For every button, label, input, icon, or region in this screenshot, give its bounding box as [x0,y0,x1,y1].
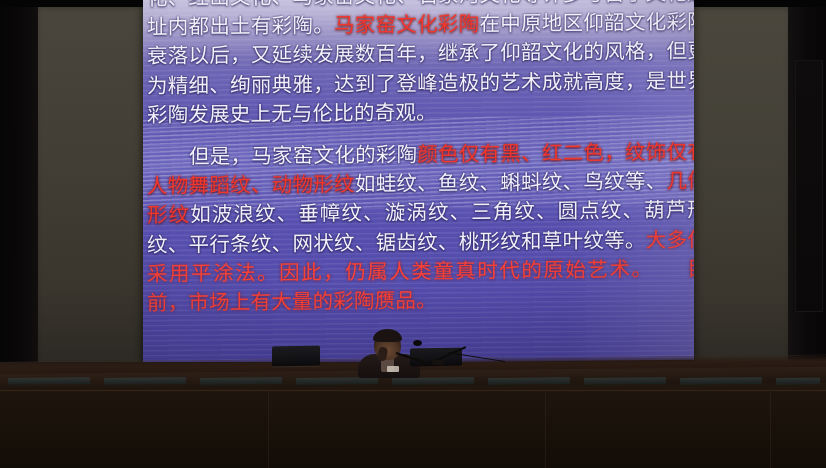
podium-slot [392,377,474,385]
podium-slot [776,378,820,385]
podium-slot [680,377,762,385]
slide-run-2a: 但是，马家窑文化的彩陶 [189,142,417,168]
slide-run-2g-spacer [643,257,687,281]
slide-run-1b-highlight: 马家窑文化彩陶 [334,12,479,37]
podium-panel-seam [268,392,269,468]
right-wall-panel [693,6,789,368]
microphone-head [413,340,422,346]
podium-slot [584,377,666,385]
laptop-left [272,346,320,367]
podium-panel-seam [770,392,771,468]
slide-paragraph-1: 化、红山文化、马家窑文化、石家河文化等许多考古学文化遗址内都出土有彩陶。马家窑文… [147,0,694,130]
presenter-hair [373,329,402,342]
slide-body-text: 化、红山文化、马家窑文化、石家河文化等许多考古学文化遗址内都出土有彩陶。马家窑文… [143,0,694,318]
slide-paragraph-2: 但是，马家窑文化的彩陶颜色仅有黑、红二色，纹饰仅有人物舞蹈纹、动物形纹如蛙纹、鱼… [147,138,694,319]
podium-front-panel [0,392,826,468]
slide-run-2e: 如波浪纹、垂幛纹、漩涡纹、三角纹、圆点纹、葫芦形纹、平行条纹、网状纹、锯齿纹、桃… [147,198,694,257]
podium-panel-seam [545,392,546,468]
presenter-name-badge [387,366,399,372]
lecture-hall-photo: 化、红山文化、马家窑文化、石家河文化等许多考古学文化遗址内都出土有彩陶。马家窑文… [0,0,826,468]
podium-slot [8,377,90,385]
microphone-base [432,360,444,365]
left-dark-wall [0,6,40,368]
podium-slot [104,377,186,385]
podium-slot [200,377,282,385]
left-wall-panel [38,6,144,368]
slide-run-2c: 如蛙纹、鱼纹、蝌蚪纹、鸟纹等、 [355,169,667,196]
podium-slot [296,377,378,385]
right-doorway [795,60,823,312]
podium-slot [488,377,570,385]
projection-screen: 化、红山文化、马家窑文化、石家河文化等许多考古学文化遗址内都出土有彩陶。马家窑文… [143,0,694,365]
podium-edge-highlight [0,390,826,391]
